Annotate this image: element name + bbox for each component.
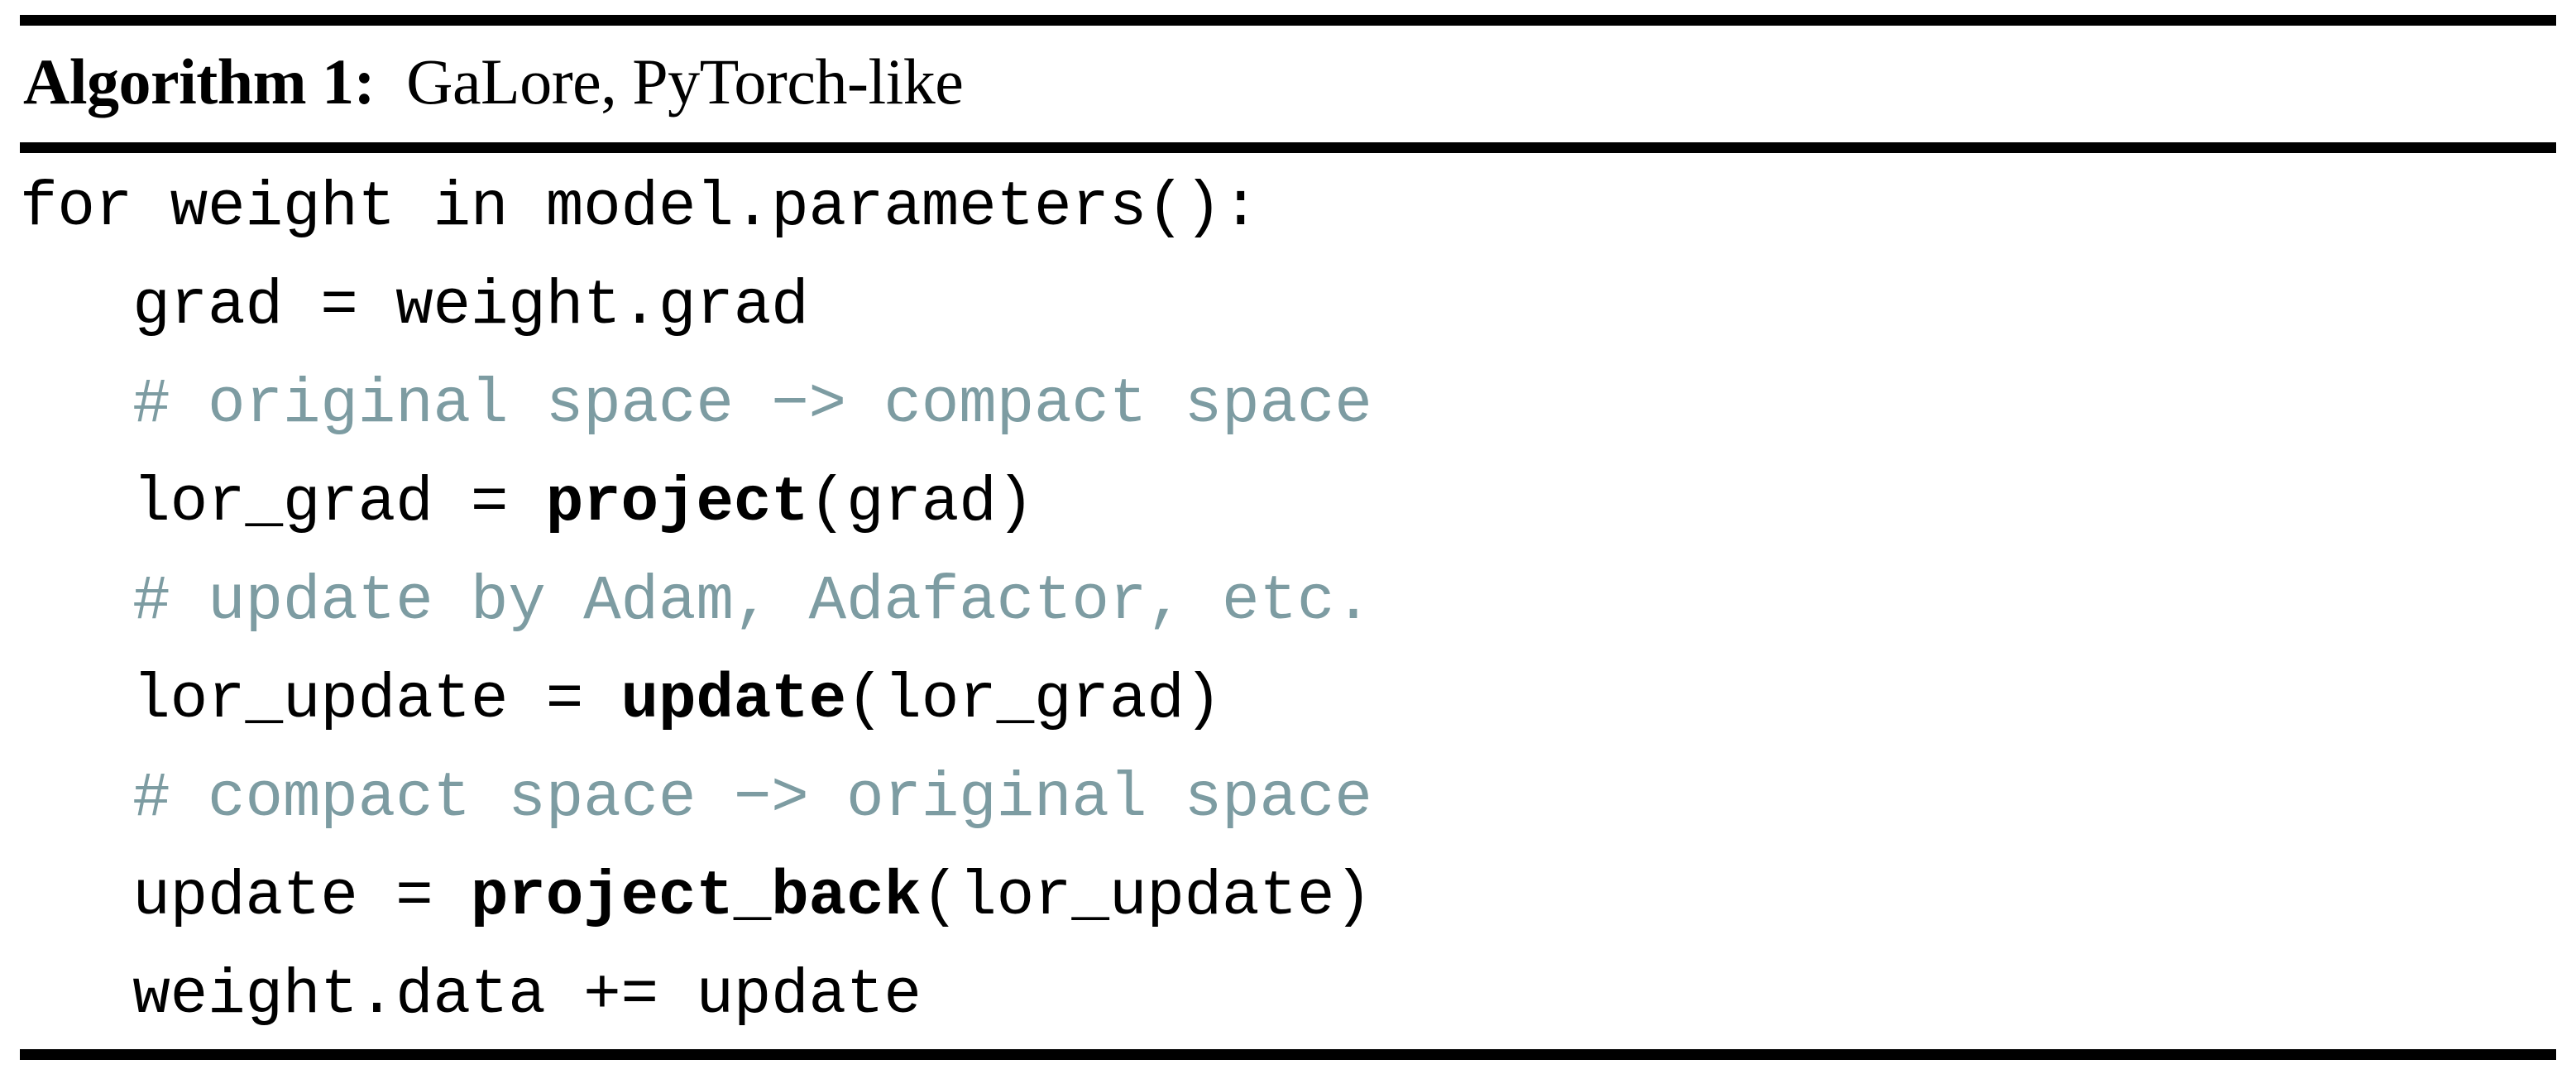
code-token-plain: (grad)	[809, 467, 1034, 539]
code-line: lor_grad = project(grad)	[20, 454, 2556, 553]
code-token-fn: update	[621, 664, 846, 736]
algorithm-caption: Algorithm 1: GaLore, PyTorch-like	[23, 30, 963, 134]
code-token-comment: # original space −> compact space	[20, 369, 1372, 440]
code-line: # update by Adam, Adafactor, etc.	[20, 553, 2556, 651]
algorithm-top-rule	[20, 15, 2556, 26]
code-token-plain: lor_update =	[20, 664, 621, 736]
algorithm-caption-label: Algorithm 1:	[23, 50, 375, 114]
algorithm-caption-title: GaLore, PyTorch-like	[406, 50, 963, 114]
code-token-plain: grad = weight.grad	[20, 271, 809, 342]
algorithm-float: Algorithm 1: GaLore, PyTorch-like for we…	[0, 0, 2576, 1074]
code-line: for weight in model.parameters():	[20, 159, 2556, 257]
code-token-comment: # compact space −> original space	[20, 763, 1372, 834]
code-token-fn: project_back	[471, 861, 922, 933]
code-token-plain: lor_grad =	[20, 467, 546, 539]
code-token-plain: update =	[20, 861, 471, 933]
code-line: update = project_back(lor_update)	[20, 848, 2556, 947]
algorithm-header-rule	[20, 142, 2556, 153]
code-token-plain: for weight in model.parameters():	[20, 172, 1259, 243]
code-token-comment: # update by Adam, Adafactor, etc.	[20, 566, 1372, 637]
algorithm-bottom-rule	[20, 1049, 2556, 1060]
code-token-plain: (lor_update)	[922, 861, 1372, 933]
code-line: lor_update = update(lor_grad)	[20, 651, 2556, 750]
code-token-fn: project	[546, 467, 809, 539]
code-line: weight.data += update	[20, 947, 2556, 1045]
code-token-plain: weight.data += update	[20, 960, 922, 1031]
code-line: # compact space −> original space	[20, 750, 2556, 848]
code-line: grad = weight.grad	[20, 257, 2556, 356]
code-line: # original space −> compact space	[20, 356, 2556, 454]
code-listing: for weight in model.parameters(): grad =…	[20, 159, 2556, 1045]
code-token-plain: (lor_grad)	[846, 664, 1222, 736]
